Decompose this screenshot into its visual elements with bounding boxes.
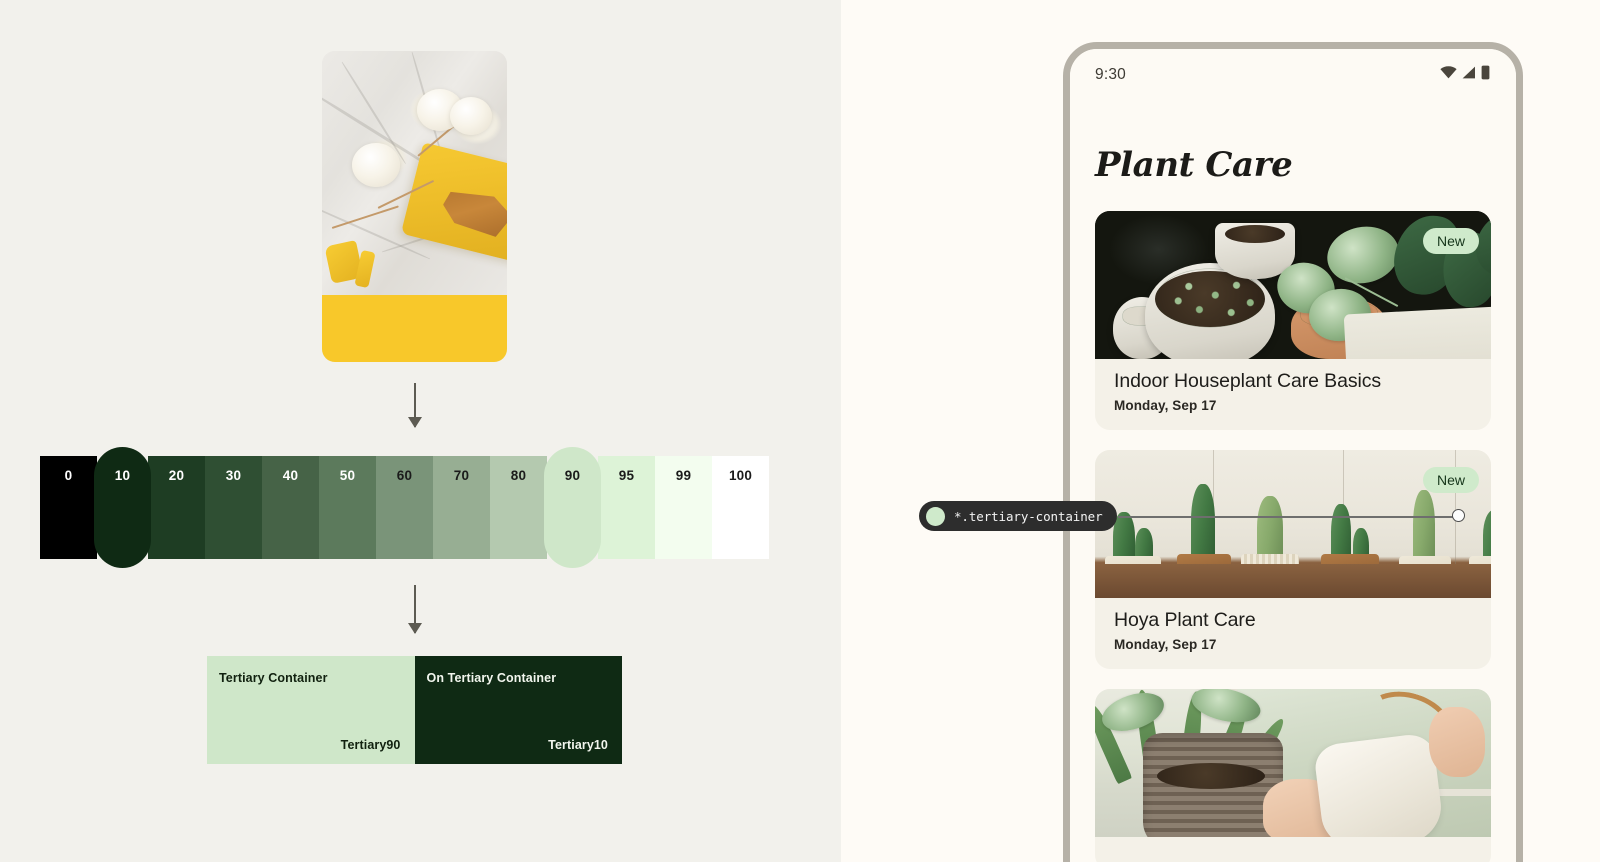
tone-label: 0 <box>65 468 73 483</box>
status-badge: New <box>1423 228 1479 254</box>
card-image: New <box>1095 211 1491 359</box>
list-item[interactable] <box>1095 689 1491 862</box>
card-image <box>1095 689 1491 837</box>
tone-label: 80 <box>511 468 526 483</box>
tone-label: 10 <box>115 468 130 483</box>
card-body <box>1095 837 1491 862</box>
card-title: Hoya Plant Care <box>1114 609 1472 632</box>
tone-swatch-99[interactable]: 99 <box>655 456 712 559</box>
token-name-label: *.tertiary-container <box>954 509 1103 524</box>
extracted-color-swatch <box>322 295 507 362</box>
wifi-icon <box>1440 66 1457 84</box>
screenshot-root: 01020304050607080909599100 Tertiary Cont… <box>0 0 1600 862</box>
tone-label: 90 <box>565 468 580 483</box>
card-date: Monday, Sep 17 <box>1114 637 1472 652</box>
role-name-label: On Tertiary Container <box>427 671 609 685</box>
tone-label: 30 <box>226 468 241 483</box>
list-item[interactable]: New Indoor Houseplant Care Basics Monday… <box>1095 211 1491 430</box>
dried-flower <box>450 97 492 135</box>
tone-swatch-90[interactable]: 90 <box>544 447 601 568</box>
tone-label: 100 <box>729 468 752 483</box>
resin-block <box>401 142 507 269</box>
tone-label: 40 <box>283 468 298 483</box>
tone-swatch-10[interactable]: 10 <box>94 447 151 568</box>
resin-core <box>438 183 507 241</box>
color-role-row: Tertiary ContainerTertiary90On Tertiary … <box>207 656 622 764</box>
potting-soil <box>1225 225 1285 243</box>
arrow-image-to-palette <box>400 383 430 427</box>
card-body: Hoya Plant Care Monday, Sep 17 <box>1095 598 1491 669</box>
wooden-shelf <box>1095 564 1491 598</box>
tone-swatch-30[interactable]: 30 <box>205 456 262 559</box>
arrow-head <box>408 623 422 634</box>
card-body: Indoor Houseplant Care Basics Monday, Se… <box>1095 359 1491 430</box>
dried-flower <box>352 143 400 187</box>
tonal-palette: 01020304050607080909599100 <box>40 456 789 559</box>
battery-icon <box>1481 65 1490 85</box>
list-item[interactable]: New Hoya Plant Care Monday, Sep 17 <box>1095 450 1491 669</box>
tone-swatch-20[interactable]: 20 <box>148 456 205 559</box>
phone-screen: 9:30 Plant Care <box>1070 49 1516 862</box>
card-title: Indoor Houseplant Care Basics <box>1114 370 1472 393</box>
tone-label: 99 <box>676 468 691 483</box>
tone-swatch-0[interactable]: 0 <box>40 456 97 559</box>
cellular-signal-icon <box>1462 66 1476 84</box>
geranium-leaf <box>1322 220 1404 290</box>
tone-swatch-70[interactable]: 70 <box>433 456 490 559</box>
tone-label: 60 <box>397 468 412 483</box>
tone-swatch-40[interactable]: 40 <box>262 456 319 559</box>
status-time: 9:30 <box>1095 66 1126 84</box>
inspector-connector-endpoint <box>1452 509 1465 522</box>
tone-swatch-100[interactable]: 100 <box>712 456 769 559</box>
inspector-token-tooltip[interactable]: *.tertiary-container <box>919 501 1117 531</box>
tone-swatch-50[interactable]: 50 <box>319 456 376 559</box>
arrow-palette-to-roles <box>400 585 430 633</box>
tone-swatch-95[interactable]: 95 <box>598 456 655 559</box>
role-name-label: Tertiary Container <box>219 671 401 685</box>
role-token-label: Tertiary90 <box>219 738 401 752</box>
color-role-swatch[interactable]: On Tertiary ContainerTertiary10 <box>415 656 623 764</box>
color-swatch-dot <box>926 507 945 526</box>
phone-mockup: 9:30 Plant Care <box>1063 42 1523 862</box>
arrow-head <box>408 417 422 428</box>
card-date: Monday, Sep 17 <box>1114 398 1472 413</box>
status-badge: New <box>1423 467 1479 493</box>
palette-derivation-panel: 01020304050607080909599100 Tertiary Cont… <box>0 0 841 862</box>
status-bar: 9:30 <box>1070 49 1516 101</box>
color-role-swatch[interactable]: Tertiary ContainerTertiary90 <box>207 656 415 764</box>
flower-stem <box>332 205 399 229</box>
article-card-list: New Indoor Houseplant Care Basics Monday… <box>1070 211 1516 862</box>
tone-swatch-60[interactable]: 60 <box>376 456 433 559</box>
card-image: New <box>1095 450 1491 598</box>
tone-label: 95 <box>619 468 634 483</box>
tone-label: 50 <box>340 468 355 483</box>
source-image-card[interactable] <box>322 51 507 362</box>
inspector-connector-line <box>1118 516 1458 518</box>
source-photo <box>322 51 507 295</box>
tone-swatch-80[interactable]: 80 <box>490 456 547 559</box>
role-token-label: Tertiary10 <box>427 738 609 752</box>
status-icons <box>1440 65 1490 85</box>
tone-label: 70 <box>454 468 469 483</box>
page-title: Plant Care <box>1095 145 1516 185</box>
potting-soil <box>1157 763 1265 789</box>
tone-label: 20 <box>169 468 184 483</box>
hand <box>1429 707 1485 777</box>
